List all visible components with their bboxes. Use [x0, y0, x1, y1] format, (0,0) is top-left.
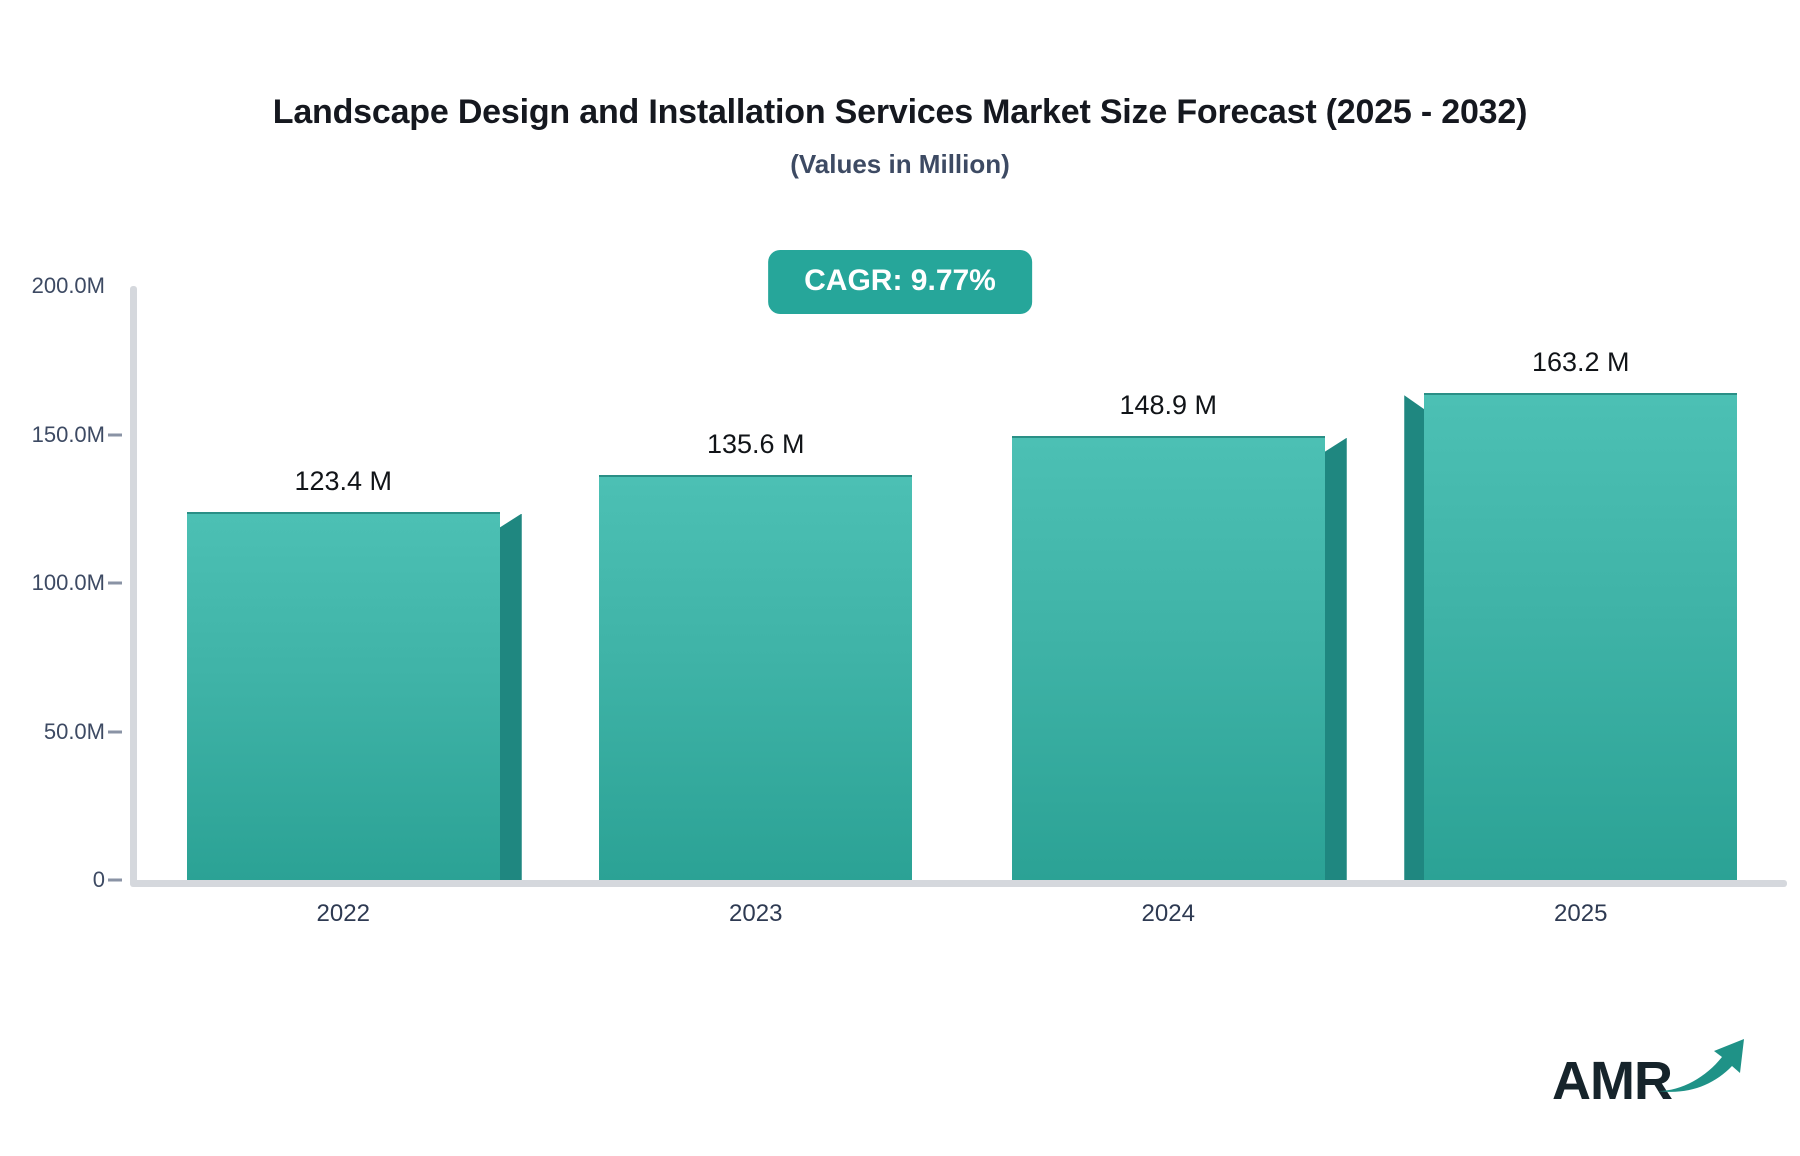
- y-axis-tick-label: 100.0M: [0, 570, 105, 596]
- bar-face: [599, 475, 912, 880]
- growth-arrow-icon: [1656, 1035, 1748, 1102]
- y-axis-tick-mark: [108, 879, 122, 882]
- y-axis-tick-label: 50.0M: [0, 719, 105, 745]
- logo-wordmark: AMR: [1552, 1054, 1672, 1108]
- bar-side-face: [1325, 438, 1347, 880]
- x-axis-label-2022: 2022: [317, 900, 370, 928]
- x-axis-label-2025: 2025: [1554, 900, 1607, 928]
- y-axis-tick-mark: [108, 582, 122, 585]
- bar-2023[interactable]: [599, 477, 912, 880]
- amr-logo: AMR: [1552, 1035, 1748, 1108]
- bar-face: [187, 512, 500, 880]
- x-axis-line: [130, 880, 1787, 887]
- bar-side-face: [1404, 395, 1424, 880]
- x-axis-label-2023: 2023: [729, 900, 782, 928]
- x-axis-label-2024: 2024: [1142, 900, 1195, 928]
- y-axis-tick-label: 150.0M: [0, 422, 105, 448]
- bar-value-label: 148.9 M: [1119, 390, 1217, 421]
- bar-side-face: [500, 514, 522, 880]
- plot-area: 050.0M100.0M150.0M200.0M 123.4 M135.6 M1…: [0, 0, 1800, 1156]
- bar-2022[interactable]: [187, 514, 500, 880]
- y-axis-tick-mark: [108, 433, 122, 436]
- bar-2024[interactable]: [1012, 438, 1325, 880]
- bar-2025[interactable]: [1424, 395, 1737, 880]
- bar-value-label: 123.4 M: [294, 466, 392, 497]
- bar-face: [1424, 393, 1737, 880]
- bar-face: [1012, 436, 1325, 880]
- y-axis-line: [130, 286, 137, 886]
- chart-card: Landscape Design and Installation Servic…: [0, 0, 1800, 1156]
- bar-value-label: 135.6 M: [707, 429, 805, 460]
- y-axis-tick-mark: [108, 730, 122, 733]
- bar-value-label: 163.2 M: [1532, 347, 1630, 378]
- y-axis-tick-label: 200.0M: [0, 273, 105, 299]
- y-axis-tick-label: 0: [0, 867, 105, 893]
